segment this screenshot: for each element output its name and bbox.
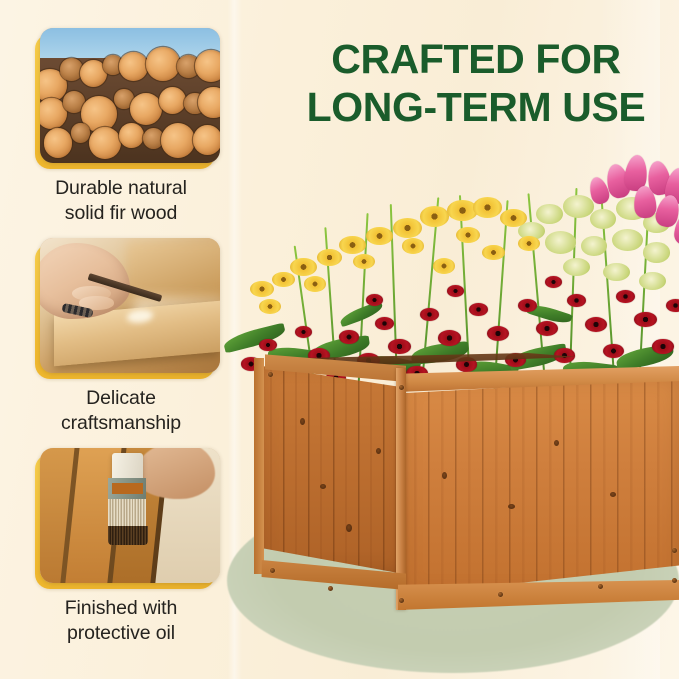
planter-left-edge-post xyxy=(254,358,264,574)
feature-caption: Delicate craftsmanship xyxy=(0,386,232,436)
caption-line-1: Durable natural xyxy=(10,176,232,201)
caption-line-2: solid fir wood xyxy=(10,201,232,226)
planter-front-panel xyxy=(401,378,679,596)
promo-canvas: CRAFTED FOR LONG-TERM USE xyxy=(0,0,679,679)
thumbnail-wrapper xyxy=(40,448,220,583)
feature-caption: Durable natural solid fir wood xyxy=(0,176,232,226)
feature-item-craftsmanship: Delicate craftsmanship xyxy=(0,238,232,448)
thumbnail-wrapper xyxy=(40,238,220,373)
caption-line-2: craftsmanship xyxy=(10,411,232,436)
feature-caption: Finished with protective oil xyxy=(0,596,232,646)
planter-left-panel xyxy=(258,362,404,574)
caption-line-1: Finished with xyxy=(10,596,232,621)
caption-line-2: protective oil xyxy=(10,621,232,646)
feature-item-durable-wood: Durable natural solid fir wood xyxy=(0,28,232,238)
feature-list: Durable natural solid fir wood xyxy=(0,28,232,658)
feature-item-protective-oil: Finished with protective oil xyxy=(0,448,232,658)
planter-front-base-rail xyxy=(398,580,679,610)
hands-carving-wood-photo xyxy=(40,238,220,373)
thumbnail-wrapper xyxy=(40,28,220,163)
planter-box xyxy=(258,352,679,624)
brush-applying-oil-photo xyxy=(40,448,220,583)
caption-line-1: Delicate xyxy=(10,386,232,411)
product-photo-wooden-planter xyxy=(232,0,679,679)
stacked-fir-logs-photo xyxy=(40,28,220,163)
